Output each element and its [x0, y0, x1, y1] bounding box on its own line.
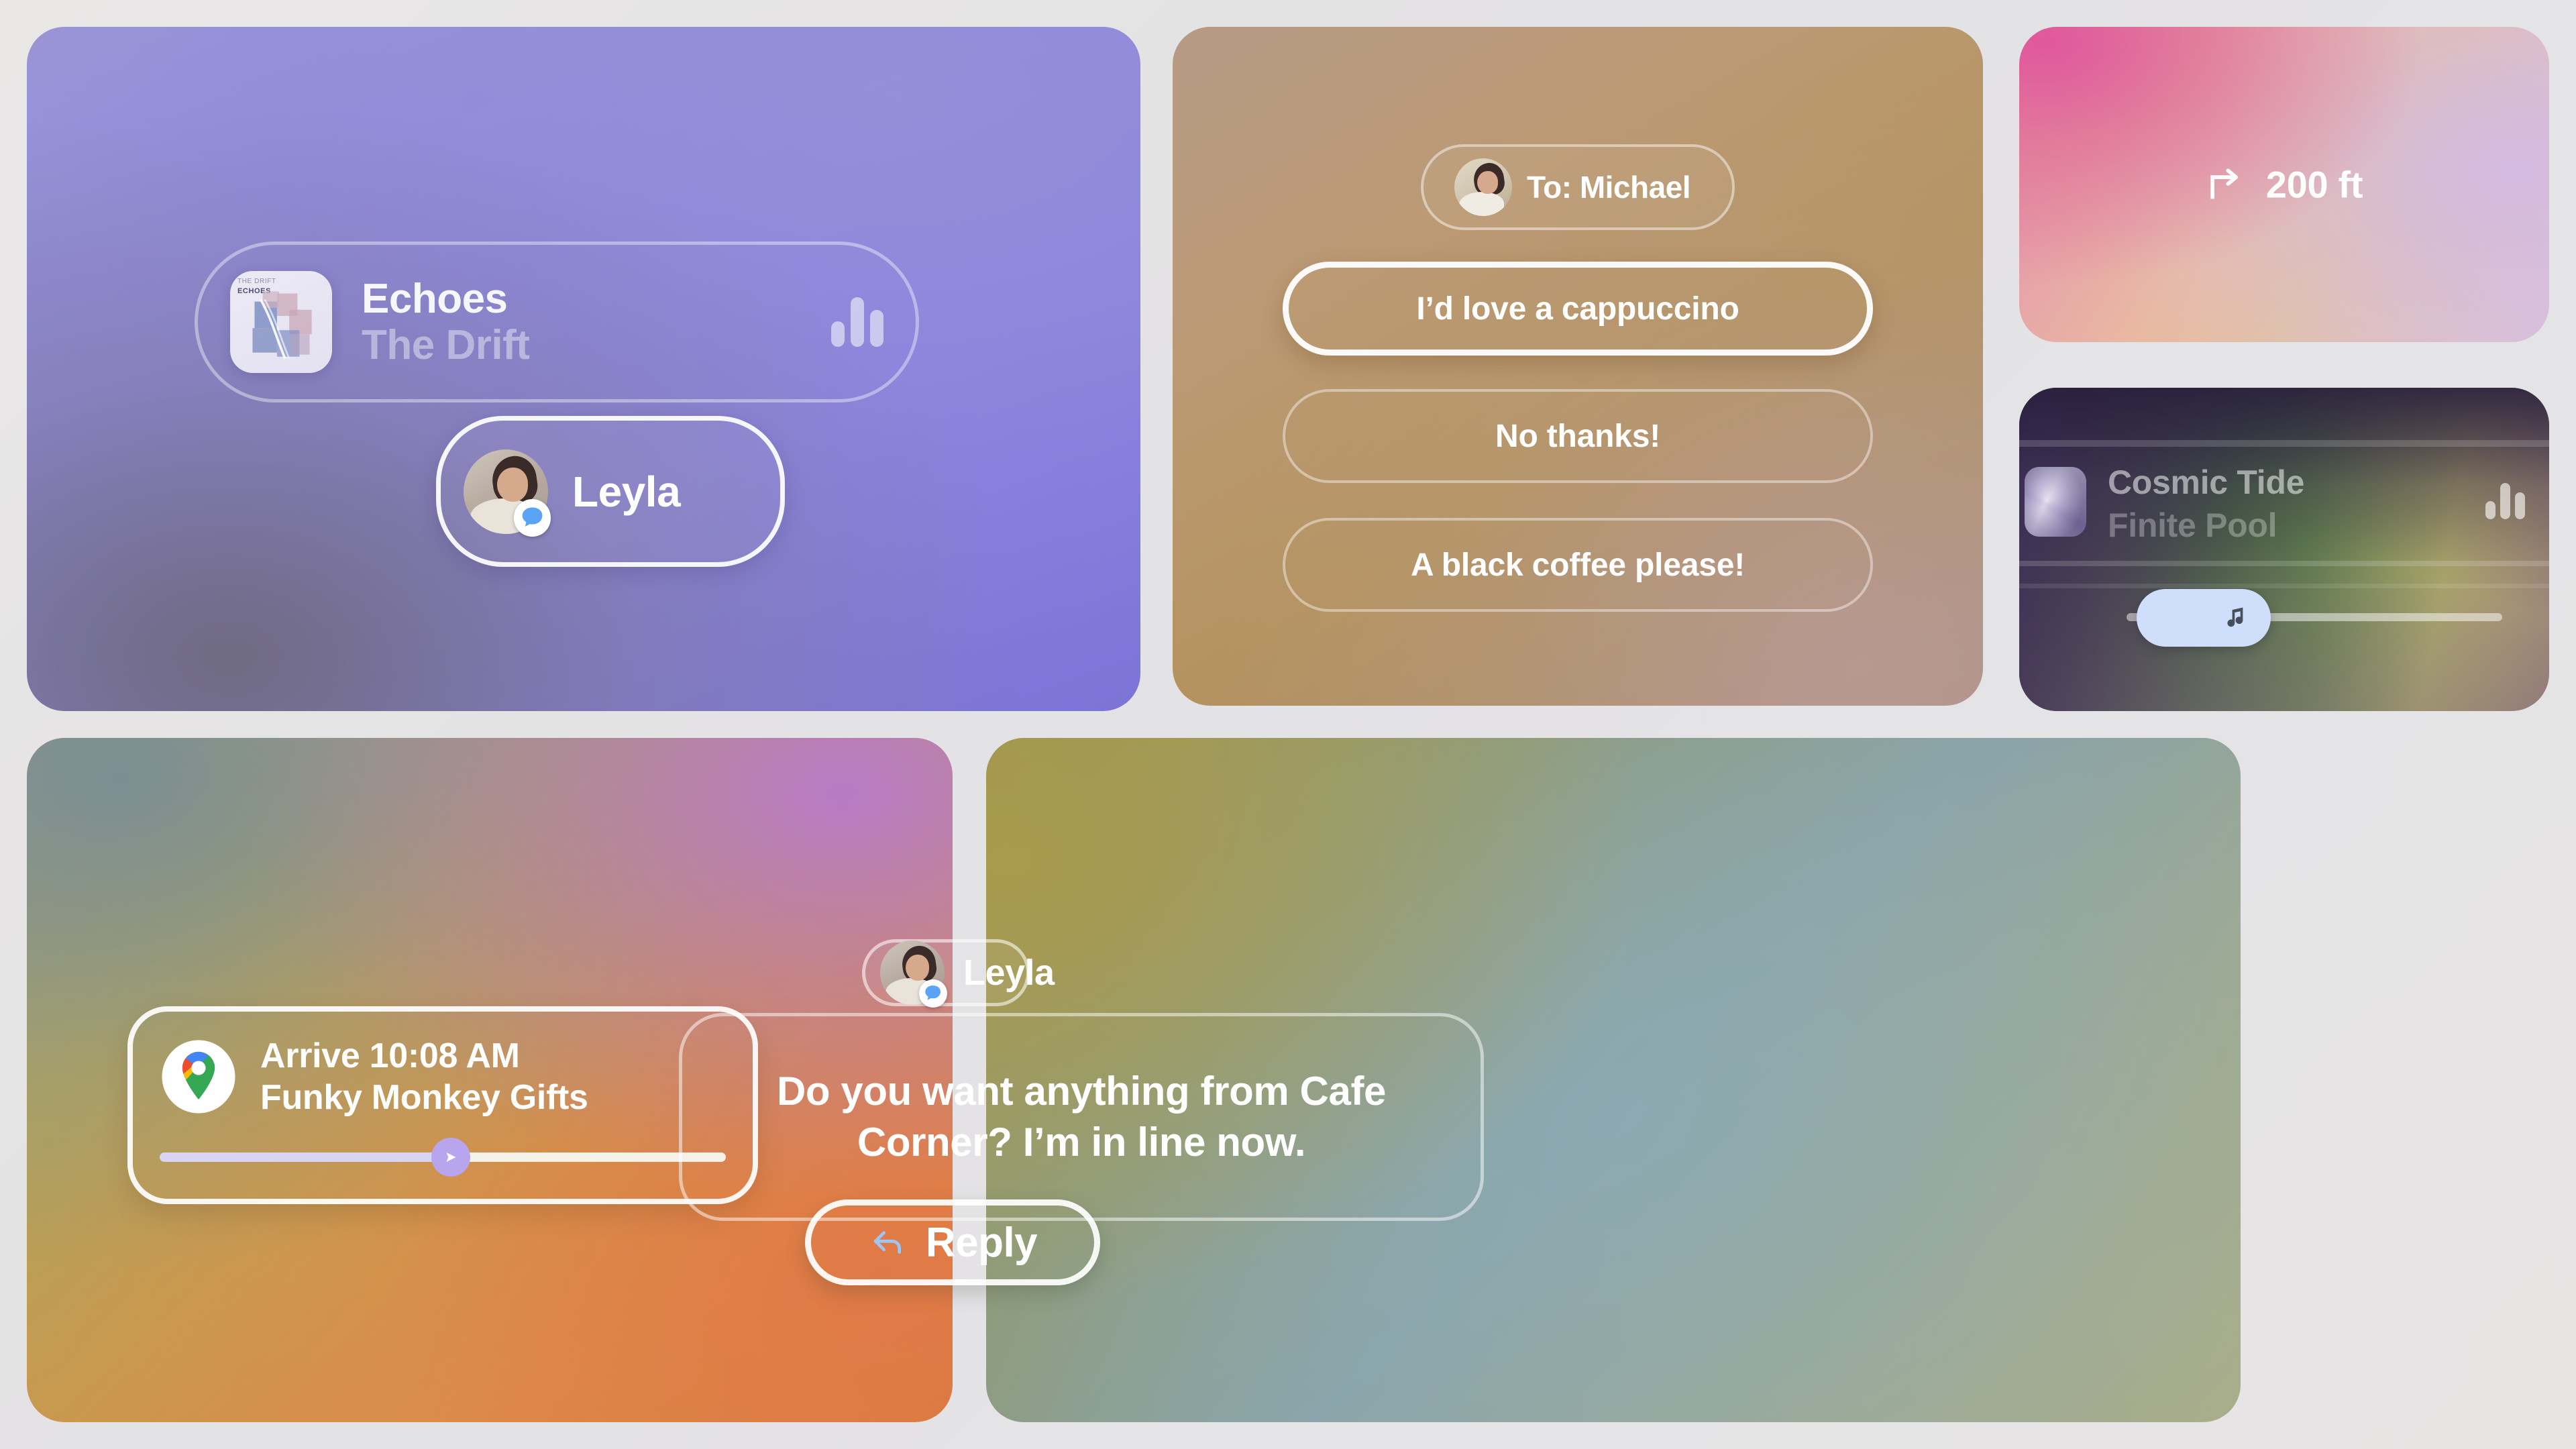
album-art	[2025, 467, 2086, 537]
message-text: Do you want anything from Cafe Corner? I…	[720, 1066, 1443, 1167]
speech-bubble-icon	[519, 504, 546, 531]
track-artist: Finite Pool	[2108, 506, 2277, 545]
contact-name: Leyla	[963, 952, 1055, 994]
recipient-name: To: Michael	[1527, 169, 1690, 205]
eta-progress-knob[interactable]	[431, 1138, 470, 1177]
contact-pill-leyla[interactable]: Leyla	[862, 939, 1030, 1006]
music-note-icon	[2224, 600, 2252, 635]
album-art-graphic	[230, 271, 332, 373]
track-title: Cosmic Tide	[2108, 463, 2304, 502]
track-artist: The Drift	[362, 323, 529, 367]
playback-knob[interactable]	[2137, 589, 2271, 647]
messages-badge-icon	[514, 499, 551, 536]
navigation-distance: 200 ft	[2266, 163, 2363, 207]
play-arrow-icon	[442, 1148, 460, 1166]
reply-arrow-icon	[868, 1224, 908, 1260]
navigation-card[interactable]: 200 ft	[2019, 27, 2549, 342]
mini-player-card[interactable]: Cosmic Tide Finite Pool	[2019, 388, 2549, 711]
navigation-instruction: 200 ft	[2206, 163, 2363, 207]
now-playing-pill[interactable]: THE DRIFT ECHOES Echoes The Drift	[195, 241, 919, 402]
equalizer-icon	[2485, 483, 2525, 519]
message-bubble[interactable]: Do you want anything from Cafe Corner? I…	[679, 1013, 1484, 1221]
eta-progress-bar[interactable]	[160, 1152, 726, 1162]
eta-progress-fill	[160, 1152, 437, 1162]
eta-destination: Funky Monkey Gifts	[260, 1077, 588, 1118]
eta-header: Arrive 10:08 AM Funky Monkey Gifts	[133, 1012, 753, 1118]
eta-arrival-time: Arrive 10:08 AM	[260, 1036, 588, 1076]
turn-right-icon	[2206, 164, 2247, 205]
reply-button-label: Reply	[926, 1219, 1037, 1267]
now-playing-card[interactable]: THE DRIFT ECHOES Echoes The Drift	[27, 27, 1140, 711]
now-playing-text: Echoes The Drift	[362, 277, 529, 367]
album-art: THE DRIFT ECHOES	[230, 271, 332, 373]
contact-name: Leyla	[572, 467, 680, 517]
recipient-pill[interactable]: To: Michael	[1421, 144, 1735, 230]
suggested-reply-option[interactable]: No thanks!	[1283, 389, 1873, 483]
track-title: Echoes	[362, 277, 529, 321]
messages-badge-icon	[919, 979, 947, 1008]
contact-pill-leyla[interactable]: Leyla	[436, 416, 785, 567]
widget-gallery: THE DRIFT ECHOES Echoes The Drift	[0, 0, 2576, 1449]
maps-pin-icon	[160, 1038, 237, 1116]
avatar	[464, 449, 548, 534]
avatar	[880, 941, 945, 1005]
reply-button[interactable]: Reply	[805, 1199, 1100, 1285]
suggested-reply-option[interactable]: I’d love a cappuccino	[1283, 262, 1873, 356]
suggested-replies-card[interactable]: To: Michael I’d love a cappuccino No tha…	[1173, 27, 1983, 706]
equalizer-icon	[831, 297, 883, 347]
avatar	[1454, 158, 1512, 216]
eta-panel[interactable]: Arrive 10:08 AM Funky Monkey Gifts	[127, 1006, 758, 1204]
suggested-reply-option[interactable]: A black coffee please!	[1283, 518, 1873, 612]
mini-player-body: Cosmic Tide Finite Pool	[2019, 388, 2549, 711]
speech-bubble-icon	[922, 983, 943, 1004]
